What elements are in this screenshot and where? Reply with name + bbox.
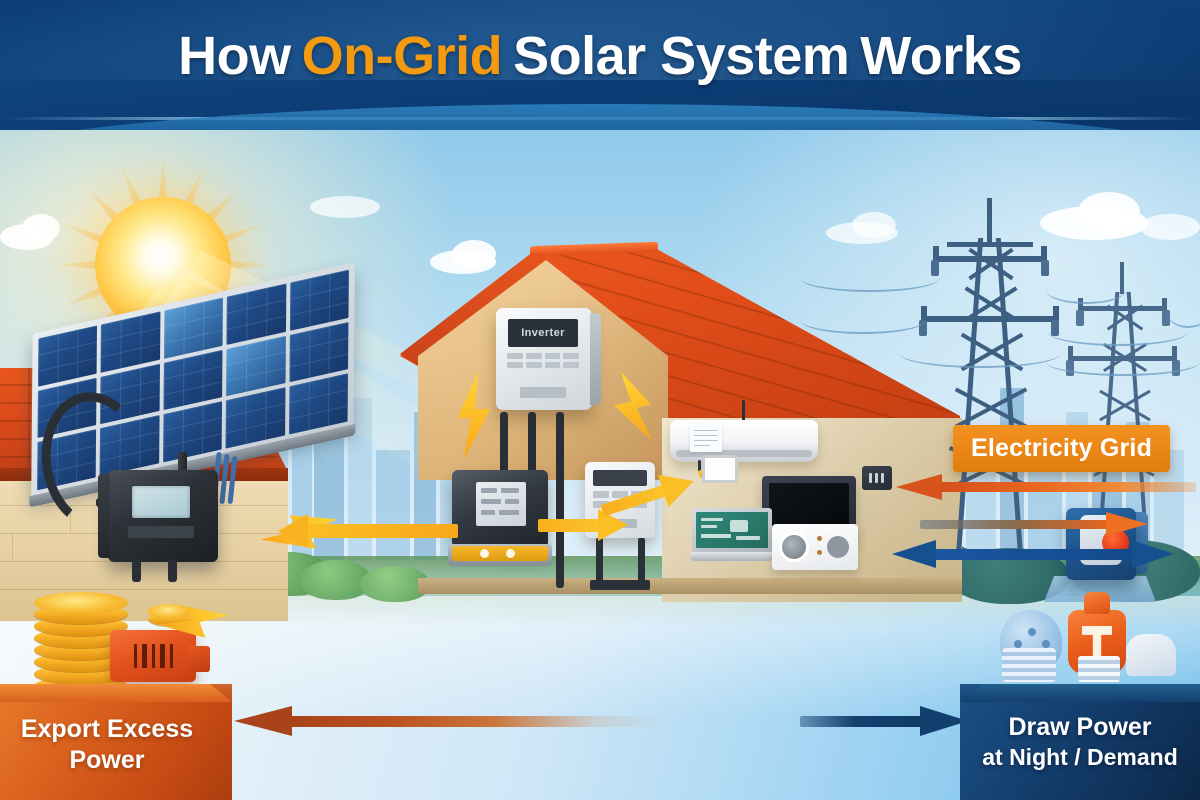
solar-cell	[289, 322, 348, 383]
washer-knob[interactable]	[817, 550, 822, 555]
power-line	[1046, 276, 1126, 304]
draw-power-banner: Draw Power at Night / Demand	[960, 700, 1200, 800]
draw-banner-top-bevel	[960, 684, 1200, 702]
solar-cell	[163, 350, 222, 411]
battery-led	[506, 549, 515, 558]
money-device-nozzle	[188, 646, 210, 672]
solar-cell	[290, 270, 349, 331]
blue-device-coil	[1002, 648, 1056, 682]
solar-cell	[38, 325, 97, 386]
solar-combiner-box[interactable]	[108, 470, 218, 562]
inverter-button[interactable]	[526, 353, 542, 359]
combiner-control-strip	[128, 526, 194, 538]
solar-cell	[227, 284, 286, 345]
transmission-tower	[905, 198, 1075, 558]
inverter-button[interactable]	[507, 362, 523, 368]
export-banner-top-bevel	[0, 684, 232, 702]
power-line	[1048, 318, 1188, 346]
export-power-line1: Export Excess	[0, 714, 220, 745]
light-switch[interactable]	[862, 466, 892, 490]
title-part-2: Solar System	[513, 25, 849, 87]
orange-device-coil	[1078, 656, 1120, 682]
page-title: How On-Grid Solar System Works	[0, 0, 1200, 112]
inverter-button[interactable]	[545, 362, 561, 368]
blue-device-dot	[1042, 640, 1050, 648]
inverter-nameplate	[520, 387, 566, 398]
house-meter-stand	[596, 538, 603, 586]
ac-power-cord	[742, 400, 745, 422]
power-line	[800, 306, 926, 334]
solar-flow-arrow-left	[278, 512, 458, 548]
inverter-conduit	[500, 412, 508, 474]
battery-indicator-band	[452, 546, 548, 561]
washer-knob[interactable]	[817, 536, 822, 541]
combiner-conduit	[168, 560, 177, 582]
draw-power-label: Draw Power at Night / Demand	[960, 712, 1200, 772]
export-power-banner: Export Excess Power	[0, 700, 232, 800]
washing-machine[interactable]	[772, 524, 858, 570]
washer-dial[interactable]	[827, 536, 849, 558]
solar-cell	[226, 388, 285, 449]
house-foundation	[418, 578, 962, 594]
inverter-button-grid[interactable]	[507, 353, 579, 368]
tower-insulator	[1041, 260, 1049, 276]
inverter-side-panel	[590, 313, 601, 405]
battery-display	[476, 482, 526, 526]
solar-cell	[289, 374, 348, 435]
inverter-button[interactable]	[545, 353, 561, 359]
infographic-canvas: Inverter	[0, 0, 1200, 800]
power-line	[800, 264, 940, 292]
wall-picture	[702, 455, 738, 483]
laptop-lid	[692, 508, 772, 552]
battery-unit[interactable]	[452, 470, 548, 548]
inverter-button[interactable]	[563, 362, 579, 368]
export-power-arrow	[234, 706, 664, 736]
grid-import-arrow	[892, 540, 1172, 568]
blue-device-dot	[1014, 640, 1022, 648]
cloud-icon	[1078, 192, 1140, 232]
export-power-label: Export Excess Power	[0, 714, 220, 775]
battery-led	[480, 549, 489, 558]
solar-cell	[164, 298, 223, 359]
coin-top	[34, 592, 128, 614]
blue-device-dot	[1028, 628, 1036, 636]
laptop-screen	[696, 512, 768, 548]
draw-power-arrow	[800, 706, 968, 736]
solar-cell	[226, 336, 285, 397]
coin-top	[148, 604, 192, 619]
laptop-base	[690, 552, 774, 561]
draw-power-line2: at Night / Demand	[960, 743, 1200, 772]
inverter-display: Inverter	[508, 319, 578, 347]
washer-drum	[779, 532, 809, 562]
combiner-display	[132, 486, 190, 518]
solar-cell	[101, 311, 160, 372]
export-power-line2: Power	[0, 745, 220, 776]
inverter[interactable]: Inverter	[496, 308, 592, 410]
orange-device-cap	[1084, 592, 1110, 614]
title-part-1: How	[178, 25, 291, 87]
draw-power-line1: Draw Power	[960, 712, 1200, 743]
title-part-3: Works	[860, 25, 1022, 87]
wall-note	[690, 424, 722, 452]
inverter-conduit	[556, 412, 564, 588]
header-divider	[0, 117, 1200, 120]
inverter-button[interactable]	[507, 353, 523, 359]
status-badge-electricity-grid: Electricity Grid	[953, 425, 1170, 472]
title-highlight: On-Grid	[302, 25, 502, 87]
money-device	[110, 630, 196, 682]
grid-export-arrow	[896, 474, 1196, 500]
house-meter-stand	[590, 580, 650, 590]
grid-flow-arrow-right	[920, 512, 1150, 536]
combiner-side-panel	[98, 474, 110, 558]
white-device	[1126, 634, 1176, 676]
power-line	[1046, 348, 1200, 376]
solar-cell	[163, 402, 222, 463]
power-line	[900, 340, 1060, 368]
inverter-button[interactable]	[526, 362, 542, 368]
power-line	[1168, 300, 1200, 328]
inverter-button[interactable]	[563, 353, 579, 359]
house-meter-stand	[638, 538, 645, 586]
combiner-conduit	[132, 560, 141, 582]
laptop[interactable]	[690, 508, 774, 566]
